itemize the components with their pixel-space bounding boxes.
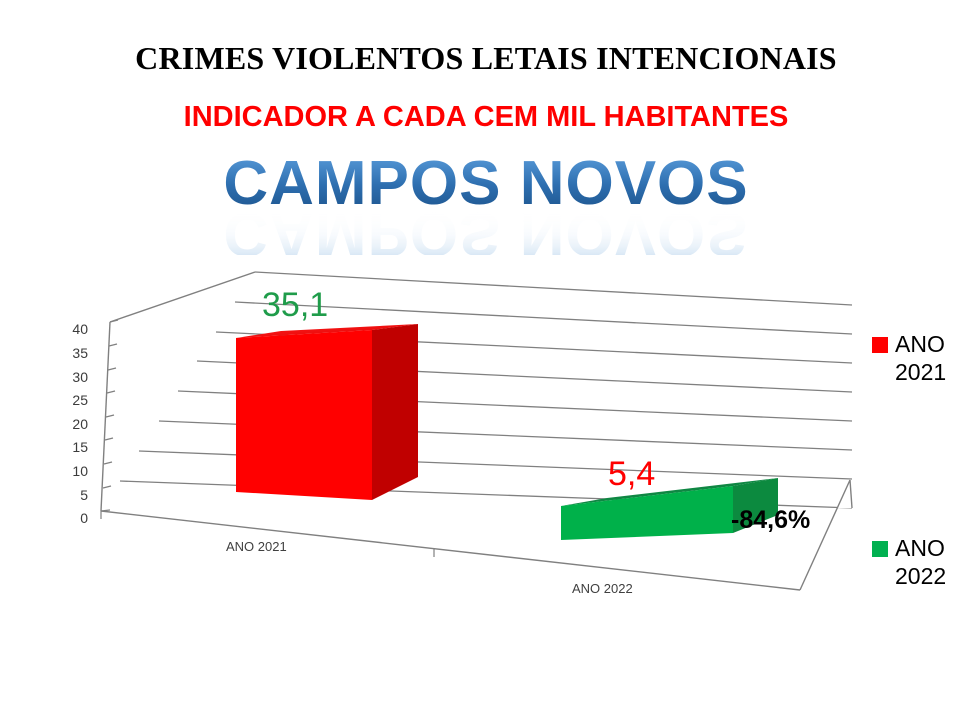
ytick-label-35: 35 bbox=[54, 345, 88, 361]
legend-swatch-icon-ano-2022 bbox=[872, 541, 888, 557]
legend-swatch-icon-ano-2021 bbox=[872, 337, 888, 353]
ytick-label-25: 25 bbox=[54, 392, 88, 408]
legend-label-ano-2022-line1: ANO bbox=[895, 535, 945, 561]
category-label-ano-2022: ANO 2022 bbox=[572, 581, 633, 596]
legend-item-ano-2021[interactable]: ANO 2021 bbox=[872, 330, 972, 386]
ytick-label-20: 20 bbox=[54, 416, 88, 432]
gridlines bbox=[120, 272, 852, 508]
variation-label: -84,6% bbox=[731, 506, 810, 535]
category-label-ano-2021: ANO 2021 bbox=[226, 539, 287, 554]
ytick-label-10: 10 bbox=[54, 463, 88, 479]
ytick-label-5: 5 bbox=[54, 487, 88, 503]
legend-label-ano-2021-line2: 2021 bbox=[895, 358, 972, 386]
ytick-label-15: 15 bbox=[54, 439, 88, 455]
legend-label-ano-2022-line2: 2022 bbox=[895, 562, 972, 590]
ytick-label-0: 0 bbox=[54, 510, 88, 526]
plot-area bbox=[0, 0, 972, 718]
chart-container: CRIMES VIOLENTOS LETAIS INTENCIONAIS IND… bbox=[0, 0, 972, 718]
ytick-label-30: 30 bbox=[54, 369, 88, 385]
legend-label-ano-2021-line1: ANO bbox=[895, 331, 945, 357]
data-label-ano-2021: 35,1 bbox=[262, 286, 328, 325]
legend-item-ano-2022[interactable]: ANO 2022 bbox=[872, 534, 972, 590]
axis-ticks bbox=[101, 320, 118, 511]
data-label-ano-2022: 5,4 bbox=[608, 455, 655, 494]
bar-ano-2021[interactable] bbox=[236, 324, 418, 500]
ytick-label-40: 40 bbox=[54, 321, 88, 337]
